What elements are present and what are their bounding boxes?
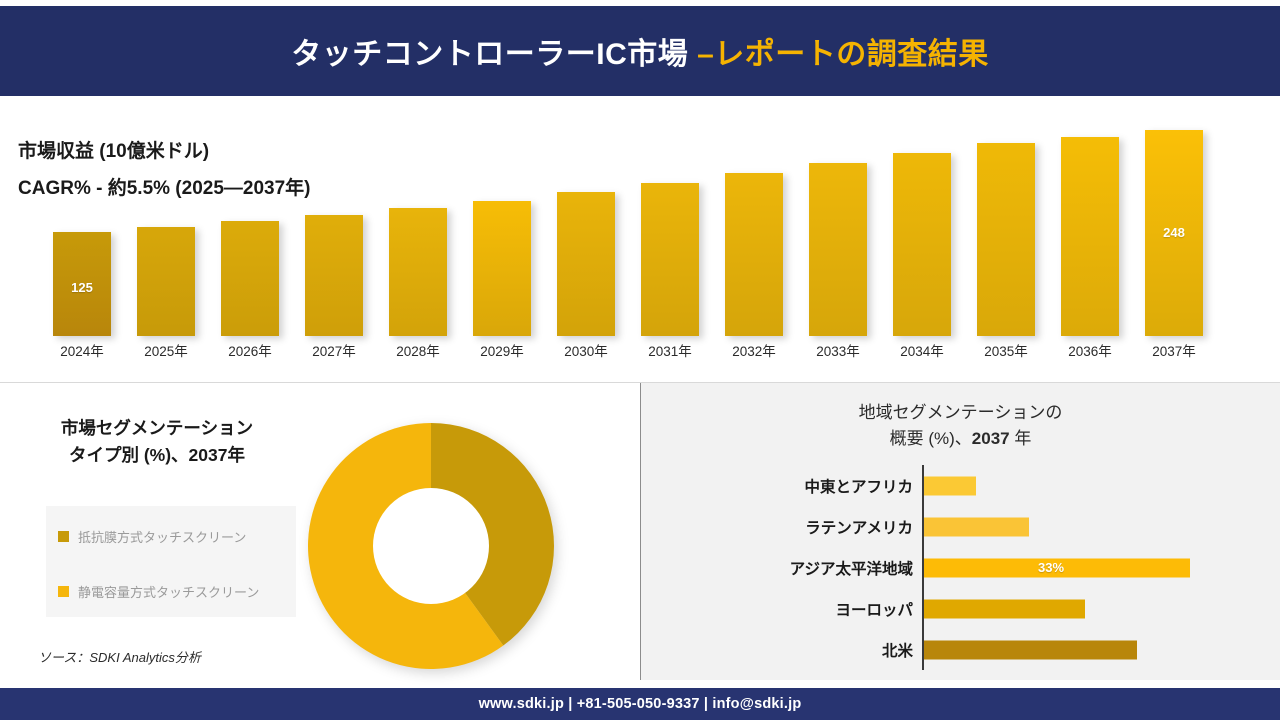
region-title-line1: 地域セグメンテーションの bbox=[641, 400, 1280, 426]
bar-rect bbox=[1061, 137, 1119, 336]
bar-column: 2482037年 bbox=[1132, 116, 1216, 336]
region-bar bbox=[924, 599, 1085, 618]
bar-x-label: 2024年 bbox=[40, 340, 124, 360]
bar-column: 2036年 bbox=[1048, 116, 1132, 336]
bar-plot-area: 1252024年2025年2026年2027年2028年2029年2030年20… bbox=[40, 116, 1240, 336]
bar-x-label: 2029年 bbox=[460, 340, 544, 360]
region-row: 中東とアフリカ bbox=[641, 465, 1280, 506]
bar-column: 2032年 bbox=[712, 116, 796, 336]
bar-column: 2030年 bbox=[544, 116, 628, 336]
segmentation-donut-chart bbox=[308, 423, 554, 669]
region-bar-value-label: 33% bbox=[1038, 560, 1064, 575]
bar-rect bbox=[557, 192, 615, 336]
bar-rect bbox=[977, 143, 1035, 336]
page-title: タッチコントローラーIC市場 –レポートの調査結果 bbox=[291, 29, 989, 73]
region-label: 中東とアフリカ bbox=[641, 475, 913, 497]
region-row: アジア太平洋地域33% bbox=[641, 547, 1280, 588]
bar-column: 2027年 bbox=[292, 116, 376, 336]
footer-contact: www.sdki.jp | +81-505-050-9337 | info@sd… bbox=[479, 696, 802, 712]
page-title-main: タッチコントローラーIC市場 bbox=[291, 38, 697, 71]
bar-rect bbox=[221, 221, 279, 336]
region-title-line2: 概要 (%)、2037 年 bbox=[641, 426, 1280, 452]
segmentation-title: 市場セグメンテーション タイプ別 (%)、2037年 bbox=[26, 415, 288, 469]
bar-column: 2028年 bbox=[376, 116, 460, 336]
bar-rect bbox=[305, 215, 363, 336]
bar-x-label: 2037年 bbox=[1132, 340, 1216, 360]
legend-item-resistive: 抵抗膜方式タッチスクリーン bbox=[58, 527, 246, 546]
bar-column: 2033年 bbox=[796, 116, 880, 336]
segmentation-legend: 抵抗膜方式タッチスクリーン 静電容量方式タッチスクリーン bbox=[46, 506, 296, 617]
region-bar bbox=[924, 476, 976, 495]
source-note: ソース：SDKI Analytics分析 bbox=[38, 647, 201, 666]
segmentation-title-line2: タイプ別 (%)、2037年 bbox=[26, 442, 288, 469]
bar-x-label: 2030年 bbox=[544, 340, 628, 360]
bar-column: 2025年 bbox=[124, 116, 208, 336]
bar-column: 2026年 bbox=[208, 116, 292, 336]
bar-x-label: 2032年 bbox=[712, 340, 796, 360]
legend-label-capacitive: 静電容量方式タッチスクリーン bbox=[78, 582, 259, 601]
legend-swatch-icon bbox=[58, 531, 69, 542]
bar-rect bbox=[893, 153, 951, 336]
revenue-chart-section: 市場収益 (10億米ドル) CAGR% - 約5.5% (2025―2037年)… bbox=[0, 96, 1280, 383]
bar-x-label: 2025年 bbox=[124, 340, 208, 360]
bar-rect: 248 bbox=[1145, 130, 1203, 336]
legend-swatch-icon bbox=[58, 586, 69, 597]
bar-column: 2031年 bbox=[628, 116, 712, 336]
region-bar bbox=[924, 517, 1029, 536]
bar-x-label: 2031年 bbox=[628, 340, 712, 360]
region-row: ヨーロッパ bbox=[641, 588, 1280, 629]
region-bar-plot: 中東とアフリカラテンアメリカアジア太平洋地域33%ヨーロッパ北米 bbox=[641, 465, 1280, 670]
region-title-year: 2037 bbox=[972, 429, 1010, 448]
page-title-accent: –レポートの調査結果 bbox=[697, 38, 989, 71]
bar-x-label: 2026年 bbox=[208, 340, 292, 360]
segmentation-title-line1: 市場セグメンテーション bbox=[26, 415, 288, 442]
legend-label-resistive: 抵抗膜方式タッチスクリーン bbox=[78, 527, 246, 546]
region-segmentation-panel: 地域セグメンテーションの 概要 (%)、2037 年 中東とアフリカラテンアメリ… bbox=[641, 383, 1280, 680]
legend-item-capacitive: 静電容量方式タッチスクリーン bbox=[58, 582, 259, 601]
bar-x-label: 2028年 bbox=[376, 340, 460, 360]
bar-rect bbox=[473, 201, 531, 336]
region-title-prefix: 概要 (%)、 bbox=[890, 429, 972, 448]
bar-rect bbox=[641, 183, 699, 336]
footer-banner: www.sdki.jp | +81-505-050-9337 | info@sd… bbox=[0, 688, 1280, 720]
bar-x-label: 2034年 bbox=[880, 340, 964, 360]
revenue-bar-chart: 1252024年2025年2026年2027年2028年2029年2030年20… bbox=[40, 116, 1240, 366]
bar-value-label: 125 bbox=[53, 280, 111, 295]
bar-rect bbox=[389, 208, 447, 336]
region-bar: 33% bbox=[924, 558, 1190, 577]
region-row: 北米 bbox=[641, 629, 1280, 670]
bar-column: 2029年 bbox=[460, 116, 544, 336]
donut-svg bbox=[308, 423, 554, 669]
region-label: ラテンアメリカ bbox=[641, 516, 913, 538]
region-label: アジア太平洋地域 bbox=[641, 557, 913, 579]
bar-x-label: 2035年 bbox=[964, 340, 1048, 360]
bar-rect bbox=[725, 173, 783, 336]
header-banner: タッチコントローラーIC市場 –レポートの調査結果 bbox=[0, 6, 1280, 96]
region-label: ヨーロッパ bbox=[641, 598, 913, 620]
bar-x-label: 2036年 bbox=[1048, 340, 1132, 360]
bar-x-label: 2033年 bbox=[796, 340, 880, 360]
bar-x-label: 2027年 bbox=[292, 340, 376, 360]
donut-hole bbox=[373, 488, 489, 604]
bar-value-label: 248 bbox=[1145, 225, 1203, 240]
bar-column: 2035年 bbox=[964, 116, 1048, 336]
bar-column: 2034年 bbox=[880, 116, 964, 336]
bar-rect bbox=[809, 163, 867, 336]
market-segmentation-panel: 市場セグメンテーション タイプ別 (%)、2037年 抵抗膜方式タッチスクリーン… bbox=[0, 383, 641, 680]
bar-rect bbox=[137, 227, 195, 336]
region-title-suffix: 年 bbox=[1010, 429, 1032, 448]
region-title: 地域セグメンテーションの 概要 (%)、2037 年 bbox=[641, 400, 1280, 451]
bar-column: 1252024年 bbox=[40, 116, 124, 336]
region-bar bbox=[924, 640, 1137, 659]
region-row: ラテンアメリカ bbox=[641, 506, 1280, 547]
bar-rect: 125 bbox=[53, 232, 111, 336]
region-label: 北米 bbox=[641, 639, 913, 661]
